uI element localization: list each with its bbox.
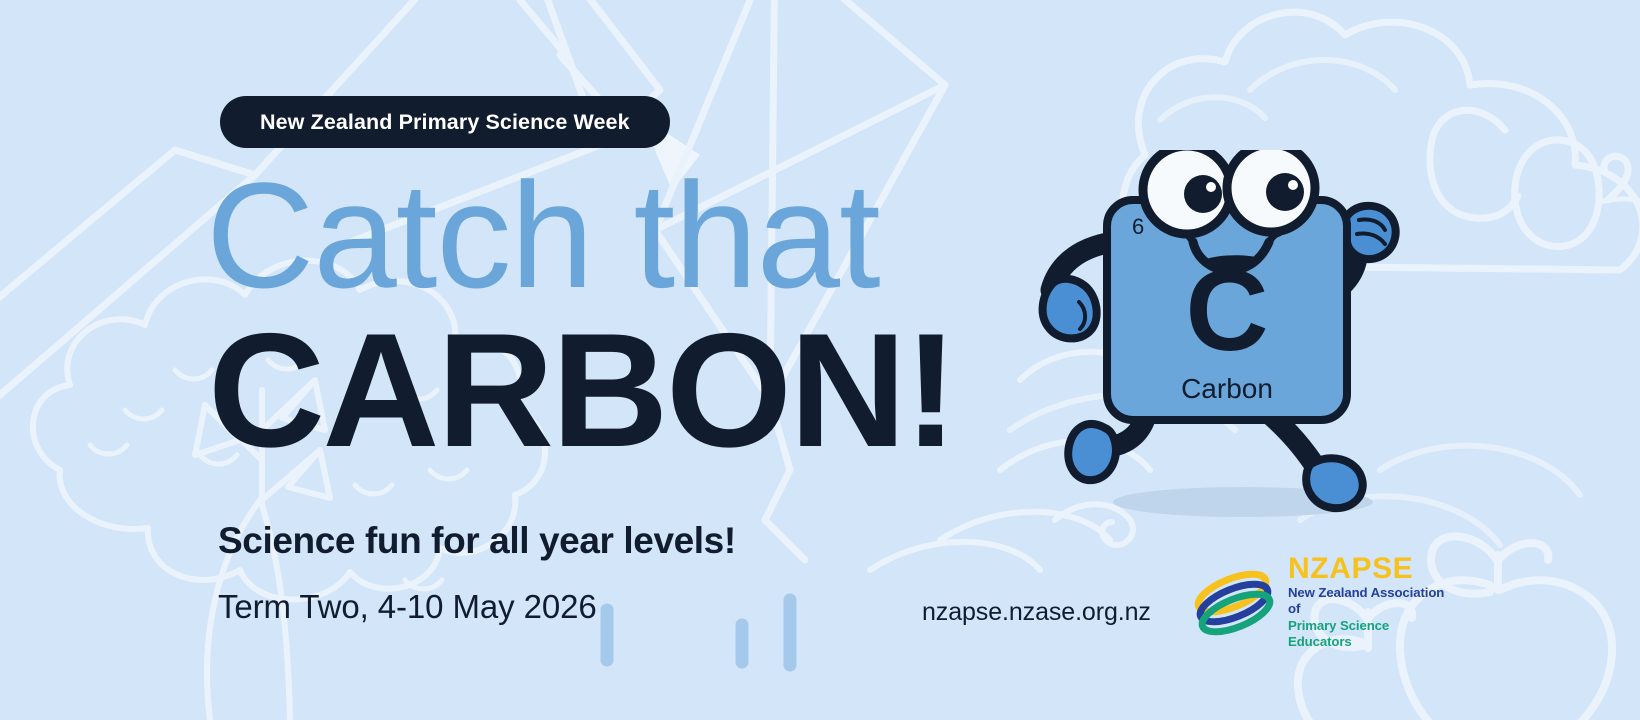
mascot-left-arm xyxy=(1043,242,1113,338)
nzapse-subtitle-line-2: Primary Science Educators xyxy=(1288,618,1448,651)
date-text: Term Two, 4-10 May 2026 xyxy=(218,588,597,626)
headline-line-2: CARBON! xyxy=(208,310,955,472)
element-tile: 6 C Carbon xyxy=(1107,200,1347,420)
event-badge-label: New Zealand Primary Science Week xyxy=(260,110,630,135)
element-name: Carbon xyxy=(1181,373,1273,404)
carbon-mascot: 6 C Carbon xyxy=(1035,150,1455,550)
subtitle-text: Science fun for all year levels! xyxy=(218,520,736,562)
left-pupil xyxy=(1184,175,1222,213)
right-pupil xyxy=(1266,173,1304,211)
atomic-number: 6 xyxy=(1132,214,1144,239)
nzapse-subtitle-line-1: New Zealand Association of xyxy=(1288,585,1448,618)
promo-banner: New Zealand Primary Science Week Catch t… xyxy=(0,0,1640,720)
headline-line-1: Catch that xyxy=(206,160,880,310)
nzapse-logo-mark xyxy=(1188,563,1280,641)
event-badge: New Zealand Primary Science Week xyxy=(220,96,670,148)
nzapse-title: NZAPSE xyxy=(1288,553,1448,585)
website-url: nzapse.nzase.org.nz xyxy=(922,598,1151,627)
nzapse-logo-text: NZAPSE New Zealand Association of Primar… xyxy=(1288,553,1448,651)
nzapse-logo[interactable]: NZAPSE New Zealand Association of Primar… xyxy=(1188,558,1448,646)
